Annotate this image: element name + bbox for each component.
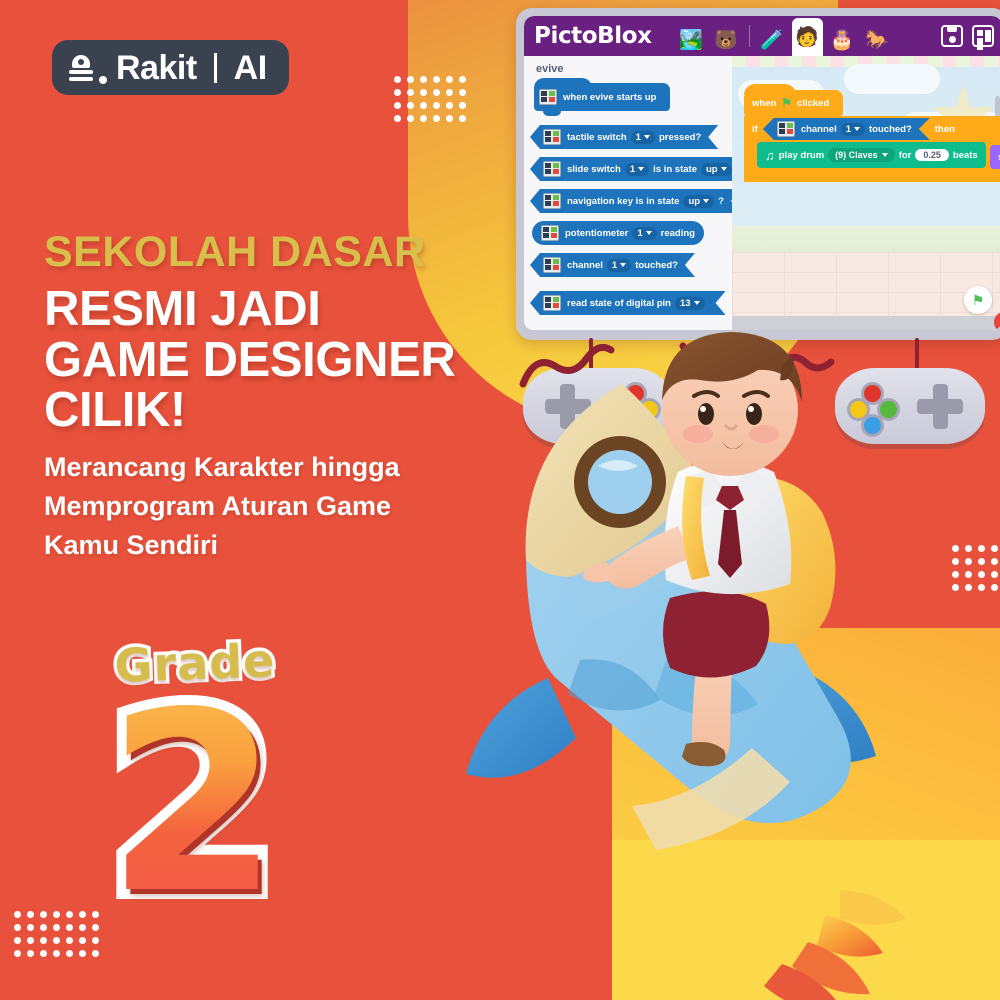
dot xyxy=(446,115,453,122)
board-layout-icon[interactable] xyxy=(972,25,994,47)
green-flag-icon: ⚑ xyxy=(972,292,985,309)
pictoblox-tab-list: 🏞️ 🐻 🧪 🧑 🎂 🐎 xyxy=(676,16,893,56)
block-label: when evive starts up xyxy=(563,92,656,103)
dropdown-value: 1 xyxy=(636,132,641,143)
if-label: if xyxy=(752,124,758,135)
channel-touched-block[interactable]: channel 1 touched? xyxy=(530,253,695,277)
dot xyxy=(40,950,47,957)
headline-line-1: RESMI JADI xyxy=(44,284,564,334)
dropdown-value: (9) Claves xyxy=(835,150,878,160)
dot xyxy=(14,950,21,957)
dot xyxy=(433,76,440,83)
sprite-icon: 🐻 xyxy=(714,28,738,52)
dropdown-value: 13 xyxy=(680,298,691,309)
rocket-flame xyxy=(764,890,906,1000)
evive-board-icon xyxy=(543,257,561,273)
dot xyxy=(459,89,466,96)
block-label-pre: potentiometer xyxy=(565,228,628,239)
block-label-mid: is in state xyxy=(653,164,697,175)
sprite-tab[interactable]: 🐻 xyxy=(711,24,742,56)
block-label-post: clicked xyxy=(797,98,829,109)
dot xyxy=(66,950,73,957)
pictoblox-brand: PictoBlox xyxy=(534,23,652,49)
block-label-post: touched? xyxy=(635,260,678,271)
dot xyxy=(14,924,21,931)
dot xyxy=(27,911,34,918)
dropdown-value: up xyxy=(688,196,700,207)
dropdown-value: 1 xyxy=(630,164,635,175)
toolbar-right-icons xyxy=(941,25,996,47)
channel-dropdown[interactable]: 1 xyxy=(607,259,631,272)
eye-right xyxy=(746,403,762,425)
dot xyxy=(407,89,414,96)
block-label-post: reading xyxy=(661,228,695,239)
dot xyxy=(66,911,73,918)
floor-decoration xyxy=(732,316,1000,330)
evive-board-icon xyxy=(543,295,561,311)
block-label-mid: for xyxy=(899,150,912,161)
block-label-post: beats xyxy=(953,150,978,161)
dot xyxy=(433,102,440,109)
shorts xyxy=(663,591,769,677)
evive-board-icon xyxy=(539,89,557,105)
pictoblox-window: PictoBlox 🏞️ 🐻 🧪 🧑 🎂 🐎 xyxy=(516,8,1000,340)
eye-left xyxy=(698,403,714,425)
logo-separator xyxy=(214,53,217,83)
block-label-pre: tactile switch xyxy=(567,132,627,143)
chevron-down-icon xyxy=(646,231,652,235)
dot xyxy=(27,924,34,931)
dot-grid-top xyxy=(394,76,466,122)
dot xyxy=(53,911,60,918)
chevron-down-icon xyxy=(644,135,650,139)
headline-eyebrow: SEKOLAH DASAR xyxy=(44,230,564,275)
block-label-pre: slide switch xyxy=(567,164,621,175)
say-block[interactable]: say Hello! for 2 seconds xyxy=(990,145,1000,169)
dot xyxy=(40,911,47,918)
dot xyxy=(446,76,453,83)
character-tab[interactable]: 🧑 xyxy=(792,18,823,56)
if-then-block[interactable]: if channel 1 touched? xyxy=(744,116,1000,182)
grade-number: 2 xyxy=(78,680,308,928)
dot xyxy=(394,89,401,96)
dropdown-value: up xyxy=(706,164,718,175)
chevron-down-icon xyxy=(638,167,644,171)
block-label-post: pressed? xyxy=(659,132,701,143)
flask-icon: 🧪 xyxy=(760,28,784,52)
dot xyxy=(394,115,401,122)
dropdown-value: 1 xyxy=(846,124,851,135)
horse-icon: 🐎 xyxy=(865,28,889,52)
cond-pre: channel xyxy=(801,124,837,135)
tactile-switch-dropdown[interactable]: 1 xyxy=(631,131,655,144)
pictoblox-toolbar: PictoBlox 🏞️ 🐻 🧪 🧑 🎂 🐎 xyxy=(524,16,1000,56)
green-flag-button[interactable]: ⚑ xyxy=(964,286,992,314)
blush-right xyxy=(749,425,779,443)
cond-post: touched? xyxy=(869,124,912,135)
evive-board-icon xyxy=(543,161,561,177)
block-label-pre: navigation key is in state xyxy=(567,196,679,207)
dot xyxy=(433,115,440,122)
chevron-down-icon xyxy=(694,301,700,305)
block-palette[interactable]: evive when evive starts up tactile switc… xyxy=(524,56,732,330)
dot xyxy=(394,76,401,83)
dot xyxy=(14,937,21,944)
dot xyxy=(420,76,427,83)
script-stage-area[interactable]: when ⚑ clicked if channel xyxy=(732,56,1000,330)
robot-icon xyxy=(68,53,94,83)
potentiometer-reading-block[interactable]: potentiometer 1 reading xyxy=(532,221,704,245)
dot xyxy=(66,924,73,931)
then-label: then xyxy=(935,124,955,135)
rocket-fin-left xyxy=(466,678,576,778)
cake-icon: 🎂 xyxy=(830,28,854,52)
block-label-pre: read state of digital pin xyxy=(567,298,671,309)
rocket-with-child-illustration xyxy=(430,330,1000,1000)
read-digital-pin-block[interactable]: read state of digital pin 13 xyxy=(530,291,726,315)
save-icon[interactable] xyxy=(941,25,963,47)
dot xyxy=(40,924,47,931)
slide-state-dropdown[interactable]: up xyxy=(701,163,732,176)
dot xyxy=(66,937,73,944)
cake-tab[interactable]: 🎂 xyxy=(827,24,858,56)
dot xyxy=(40,937,47,944)
navigation-key-block[interactable]: navigation key is in state up ? xyxy=(530,189,732,213)
slide-switch-dropdown[interactable]: 1 xyxy=(625,163,649,176)
when-flag-clicked-block[interactable]: when ⚑ clicked xyxy=(744,90,843,116)
block-label-post: ? xyxy=(718,196,724,207)
play-drum-block[interactable]: ♫ play drum (9) Claves for 0.25 beats xyxy=(757,142,986,168)
chevron-down-icon xyxy=(854,127,860,131)
chevron-down-icon xyxy=(721,167,727,171)
dot xyxy=(459,115,466,122)
chevron-down-icon xyxy=(620,263,626,267)
porthole-glass xyxy=(588,450,652,514)
dot xyxy=(446,89,453,96)
ground-decoration xyxy=(732,226,1000,252)
dot xyxy=(394,102,401,109)
dot xyxy=(53,937,60,944)
dot xyxy=(53,924,60,931)
dot xyxy=(407,115,414,122)
music-note-icon: ♫ xyxy=(765,148,775,163)
block-label-pre: when xyxy=(752,98,776,109)
tactile-switch-block[interactable]: tactile switch 1 pressed? xyxy=(530,125,718,149)
script-stack[interactable]: when ⚑ clicked if channel xyxy=(744,90,1000,182)
chevron-down-icon xyxy=(882,153,888,157)
drum-dropdown[interactable]: (9) Claves xyxy=(828,148,895,162)
green-flag-icon: ⚑ xyxy=(781,96,792,110)
backdrop-tab[interactable]: 🏞️ xyxy=(676,24,707,56)
dot xyxy=(27,950,34,957)
beats-input[interactable]: 0.25 xyxy=(915,149,949,161)
dot xyxy=(27,937,34,944)
brand-logo[interactable]: Rakit AI xyxy=(52,40,289,95)
if-block-foot xyxy=(744,169,1000,182)
evive-board-icon xyxy=(777,121,795,137)
dot xyxy=(459,76,466,83)
grade-badge: Grade 2 2 xyxy=(78,636,308,966)
navigation-key-dropdown[interactable]: up xyxy=(683,195,714,208)
channel-touched-condition[interactable]: channel 1 touched? xyxy=(763,118,930,140)
poster-canvas: Rakit AI SEKOLAH DASAR RESMI JADI GAME D… xyxy=(0,0,1000,1000)
dot xyxy=(433,89,440,96)
block-label-pre: channel xyxy=(567,260,603,271)
flask-tab[interactable]: 🧪 xyxy=(757,24,788,56)
dropdown-value: 1 xyxy=(637,228,642,239)
logo-text: Rakit xyxy=(116,51,197,85)
potentiometer-dropdown[interactable]: 1 xyxy=(632,227,656,240)
block-label-pre: play drum xyxy=(779,150,824,161)
evive-board-icon xyxy=(543,129,561,145)
dot xyxy=(459,102,466,109)
dot xyxy=(446,102,453,109)
slide-switch-block[interactable]: slide switch 1 is in state up xyxy=(530,157,732,181)
chevron-down-icon xyxy=(703,199,709,203)
horse-tab[interactable]: 🐎 xyxy=(862,24,893,56)
dot xyxy=(407,76,414,83)
logo-text-ai: AI xyxy=(234,51,267,85)
evive-board-icon xyxy=(541,225,559,241)
blush-left xyxy=(683,425,713,443)
digital-pin-dropdown[interactable]: 13 xyxy=(675,297,705,310)
if-block-body: ♫ play drum (9) Claves for 0.25 beats xyxy=(744,142,1000,169)
toolbar-divider xyxy=(749,25,750,47)
dropdown-value: 1 xyxy=(612,260,617,271)
backdrop-icon: 🏞️ xyxy=(679,28,703,52)
channel-dropdown[interactable]: 1 xyxy=(841,123,865,136)
dot xyxy=(407,102,414,109)
logo-dot-icon xyxy=(99,76,107,84)
dot xyxy=(14,911,21,918)
dot xyxy=(53,950,60,957)
dot xyxy=(420,115,427,122)
character-icon: 🧑 xyxy=(795,25,819,49)
when-evive-starts-up-block[interactable]: when evive starts up xyxy=(534,83,670,111)
if-condition-row[interactable]: if channel 1 touched? xyxy=(744,116,1000,142)
evive-board-icon xyxy=(543,193,561,209)
dot xyxy=(420,102,427,109)
dot xyxy=(420,89,427,96)
